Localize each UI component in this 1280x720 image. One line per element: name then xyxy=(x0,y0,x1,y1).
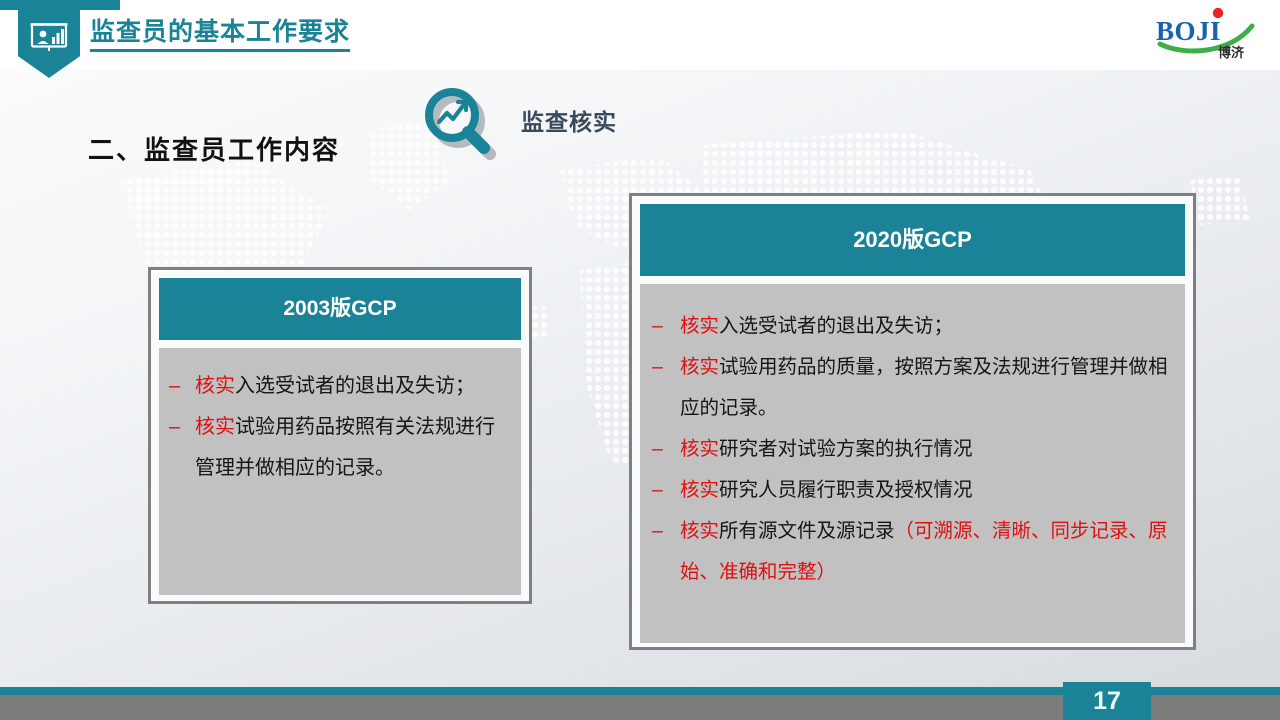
bullet-dash: – xyxy=(652,306,680,347)
bullet-dash: – xyxy=(169,366,195,407)
bullet-text: 核实入选受试者的退出及失访； xyxy=(680,306,1169,347)
list-item: – 核实试验用药品按照有关法规进行管理并做相应的记录。 xyxy=(169,407,507,489)
list-item: – 核实研究者对试验方案的执行情况 xyxy=(652,429,1169,470)
list-item: – 核实试验用药品的质量，按照方案及法规进行管理并做相应的记录。 xyxy=(652,347,1169,429)
bullet-text: 核实入选受试者的退出及失访； xyxy=(195,366,507,407)
bullet-rest: 试验用药品按照有关法规进行管理并做相应的记录。 xyxy=(195,416,495,479)
bullet-text: 核实所有源文件及源记录（可溯源、清晰、同步记录、原始、准确和完整） xyxy=(680,511,1169,593)
gcp-2003-box-body: – 核实入选受试者的退出及失访； – 核实试验用药品按照有关法规进行管理并做相应… xyxy=(159,348,521,595)
presentation-chart-icon xyxy=(30,22,68,52)
keyword-highlight: 核实 xyxy=(680,438,719,460)
bullet-text: 核实研究人员履行职责及授权情况 xyxy=(680,470,1169,511)
bullet-text: 核实研究者对试验方案的执行情况 xyxy=(680,429,1169,470)
magnifier-chart-icon xyxy=(424,88,506,162)
slide-canvas: 监查员的基本工作要求 BOJI 博济 二、监查员工作内容 监查核实 2003版G… xyxy=(0,0,1280,720)
list-item: – 核实研究人员履行职责及授权情况 xyxy=(652,470,1169,511)
keyword-highlight: 核实 xyxy=(680,315,719,337)
keyword-highlight: 核实 xyxy=(680,520,719,542)
bullet-rest: 研究人员履行职责及授权情况 xyxy=(719,479,973,501)
gcp-2003-bullet-list: – 核实入选受试者的退出及失访； – 核实试验用药品按照有关法规进行管理并做相应… xyxy=(169,366,507,489)
bullet-rest: 研究者对试验方案的执行情况 xyxy=(719,438,973,460)
gcp-2020-bullet-list: – 核实入选受试者的退出及失访； – 核实试验用药品的质量，按照方案及法规进行管… xyxy=(652,306,1169,593)
bullet-dash: – xyxy=(652,429,680,470)
gcp-2003-box: 2003版GCP – 核实入选受试者的退出及失访； – 核实试验用药品按照有关法… xyxy=(148,267,532,604)
list-item: – 核实入选受试者的退出及失访； xyxy=(169,366,507,407)
page-number: 17 xyxy=(1063,682,1151,720)
list-item: – 核实所有源文件及源记录（可溯源、清晰、同步记录、原始、准确和完整） xyxy=(652,511,1169,593)
section-heading: 二、监查员工作内容 xyxy=(88,130,340,167)
list-item: – 核实入选受试者的退出及失访； xyxy=(652,306,1169,347)
svg-text:BOJI: BOJI xyxy=(1156,16,1221,46)
gcp-2003-box-header: 2003版GCP xyxy=(159,278,521,340)
bullet-dash: – xyxy=(652,511,680,552)
bullet-rest: 试验用药品的质量，按照方案及法规进行管理并做相应的记录。 xyxy=(680,356,1168,419)
slide-header: 监查员的基本工作要求 BOJI 博济 xyxy=(0,0,1280,70)
bullet-dash: – xyxy=(652,470,680,511)
bullet-text: 核实试验用药品按照有关法规进行管理并做相应的记录。 xyxy=(195,407,507,489)
company-logo: BOJI 博济 xyxy=(1152,4,1262,62)
bullet-dash: – xyxy=(652,347,680,388)
bullet-rest: 入选受试者的退出及失访； xyxy=(719,315,953,337)
bullet-rest: 入选受试者的退出及失访； xyxy=(235,375,475,397)
gcp-2020-box: 2020版GCP – 核实入选受试者的退出及失访； – 核实试验用药品的质量，按… xyxy=(629,193,1196,650)
gcp-2020-box-header: 2020版GCP xyxy=(640,204,1185,276)
keyword-highlight: 核实 xyxy=(680,479,719,501)
bullet-dash: – xyxy=(169,407,195,448)
subject-label: 监查核实 xyxy=(521,103,617,137)
gcp-2020-box-body: – 核实入选受试者的退出及失访； – 核实试验用药品的质量，按照方案及法规进行管… xyxy=(640,284,1185,643)
keyword-highlight: 核实 xyxy=(195,416,235,438)
bullet-rest: 所有源文件及源记录 xyxy=(719,520,895,542)
keyword-highlight: 核实 xyxy=(195,375,235,397)
svg-text:博济: 博济 xyxy=(1218,45,1245,60)
keyword-highlight: 核实 xyxy=(680,356,719,378)
bullet-text: 核实试验用药品的质量，按照方案及法规进行管理并做相应的记录。 xyxy=(680,347,1169,429)
page-title: 监查员的基本工作要求 xyxy=(90,18,350,52)
